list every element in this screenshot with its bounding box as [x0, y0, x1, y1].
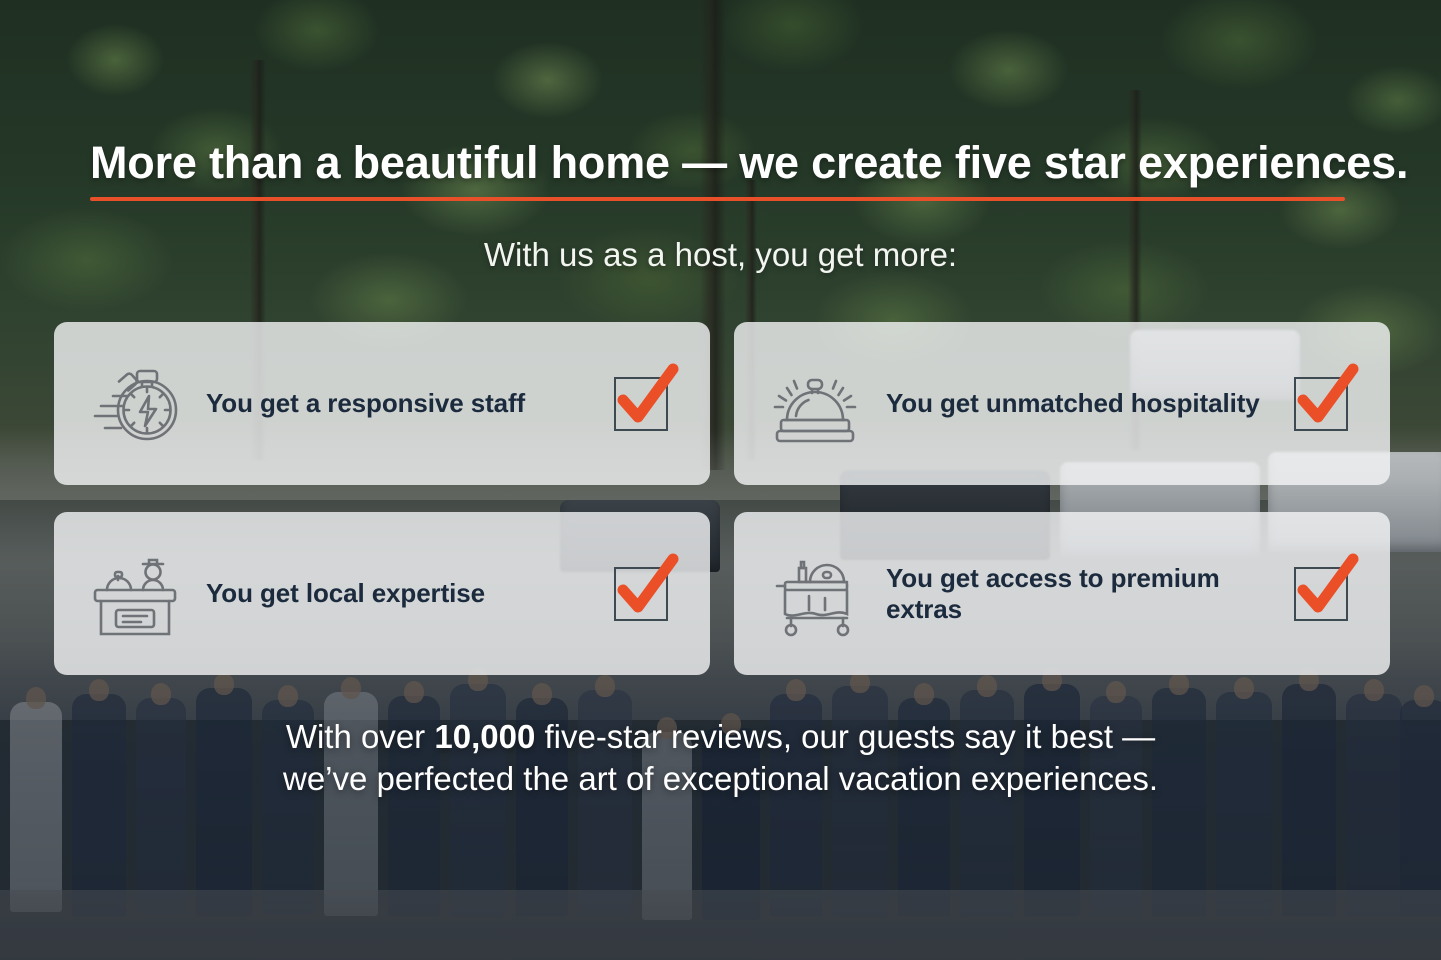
benefit-checkbox[interactable]: [1294, 567, 1348, 621]
benefit-card[interactable]: You get local expertise: [54, 512, 710, 675]
social-proof-line1-pre: With over: [286, 718, 435, 755]
subheadline: With us as a host, you get more:: [0, 236, 1441, 274]
benefit-checkbox[interactable]: [1294, 377, 1348, 431]
benefit-checkbox[interactable]: [614, 567, 668, 621]
service-bell-icon: [762, 358, 868, 450]
headline-block: More than a beautiful home — we create f…: [90, 138, 1345, 201]
check-icon: [610, 553, 682, 625]
benefit-card[interactable]: You get a responsive staff: [54, 322, 710, 485]
benefits-grid: You get a responsive staff: [54, 322, 1390, 675]
page-title: More than a beautiful home — we create f…: [90, 138, 1345, 188]
hero-section: More than a beautiful home — we create f…: [0, 0, 1441, 960]
check-icon: [1290, 553, 1362, 625]
benefit-label: You get a responsive staff: [188, 388, 614, 419]
review-count: 10,000: [434, 718, 535, 755]
social-proof-line-1: With over 10,000 five-star reviews, our …: [0, 716, 1441, 758]
headline-underline: [90, 197, 1345, 201]
benefit-label: You get access to premium extras: [868, 563, 1294, 625]
benefit-card[interactable]: You get access to premium extras: [734, 512, 1390, 675]
social-proof-statement: With over 10,000 five-star reviews, our …: [0, 716, 1441, 800]
benefit-label: You get unmatched hospitality: [868, 388, 1294, 419]
stopwatch-lightning-icon: [82, 358, 188, 450]
check-icon: [610, 363, 682, 435]
concierge-desk-icon: [82, 548, 188, 640]
social-proof-line-2: we’ve perfected the art of exceptional v…: [0, 758, 1441, 800]
benefit-checkbox[interactable]: [614, 377, 668, 431]
benefit-card[interactable]: You get unmatched hospitality: [734, 322, 1390, 485]
room-service-cart-icon: [762, 548, 868, 640]
benefit-label: You get local expertise: [188, 578, 614, 609]
social-proof-line1-post: five-star reviews, our guests say it bes…: [535, 718, 1155, 755]
check-icon: [1290, 363, 1362, 435]
